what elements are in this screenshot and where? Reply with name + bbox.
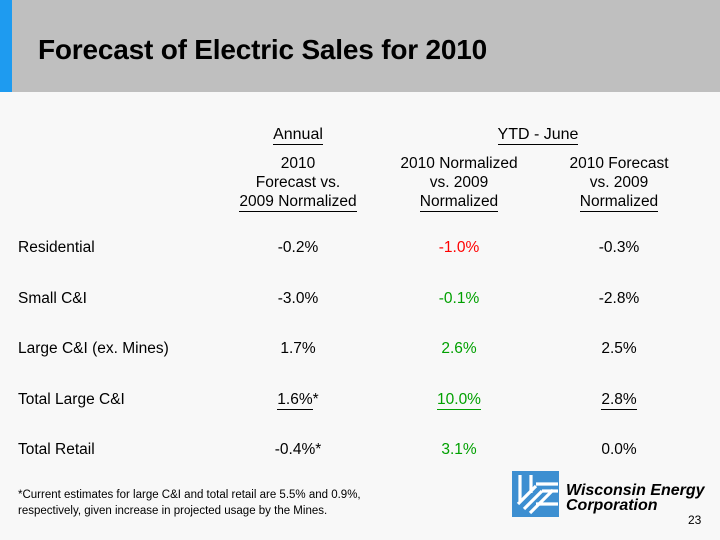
footnote: *Current estimates for large C&I and tot… xyxy=(18,487,488,519)
table-row: Large C&I (ex. Mines)1.7%2.6%2.5% xyxy=(0,340,720,362)
column-header-1-line3: 2009 Normalized xyxy=(239,192,356,212)
row-label: Total Retail xyxy=(18,441,95,459)
table-cell: -2.8% xyxy=(539,290,699,308)
row-label: Large C&I (ex. Mines) xyxy=(18,340,169,358)
table-cell: -0.3% xyxy=(539,239,699,257)
table-cell: 1.6%* xyxy=(218,391,378,409)
table-cell: -0.2% xyxy=(218,239,378,257)
group-header-ytd-label: YTD - June xyxy=(498,126,579,145)
table-cell: 10.0% xyxy=(379,391,539,409)
logo-wordmark-line-1: Wisconsin Energy xyxy=(566,483,705,498)
forecast-table: Annual YTD - June 2010 Forecast vs. 2009… xyxy=(0,92,720,460)
table-cell: 2.5% xyxy=(539,340,699,358)
slide-title-band: Forecast of Electric Sales for 2010 xyxy=(0,0,720,92)
title-accent-bar xyxy=(0,0,12,92)
table-cell: 2.8% xyxy=(539,391,699,409)
cell-value: 3.1% xyxy=(441,441,476,458)
row-label: Residential xyxy=(18,239,95,257)
cell-value: -0.1% xyxy=(439,290,480,307)
column-header-1: 2010 Forecast vs. 2009 Normalized xyxy=(218,154,378,212)
footnote-line-2: respectively, given increase in projecte… xyxy=(18,503,488,519)
group-header-annual: Annual xyxy=(218,126,378,144)
column-header-2-line2: vs. 2009 xyxy=(379,173,539,192)
column-header-3-line1: 2010 Forecast xyxy=(539,154,699,173)
group-header-ytd: YTD - June xyxy=(458,126,618,144)
logo-wordmark-line-2: Corporation xyxy=(566,498,705,513)
page-title: Forecast of Electric Sales for 2010 xyxy=(38,34,487,66)
footnote-line-1: *Current estimates for large C&I and tot… xyxy=(18,487,488,503)
table-cell: 2.6% xyxy=(379,340,539,358)
cell-value: 1.6% xyxy=(277,391,312,410)
table-cell: -1.0% xyxy=(379,239,539,257)
cell-value: 10.0% xyxy=(437,391,481,410)
cell-value: -0.4%* xyxy=(275,441,322,458)
cell-value: -3.0% xyxy=(278,290,319,307)
cell-value: -0.2% xyxy=(278,239,319,256)
column-header-2: 2010 Normalized vs. 2009 Normalized xyxy=(379,154,539,212)
table-row: Small C&I-3.0%-0.1%-2.8% xyxy=(0,290,720,312)
logo: Wisconsin Energy Corporation xyxy=(512,471,702,519)
column-header-3-line2: vs. 2009 xyxy=(539,173,699,192)
table-row: Residential-0.2%-1.0%-0.3% xyxy=(0,239,720,261)
wisconsin-energy-mark-icon xyxy=(512,471,559,517)
cell-value: 2.5% xyxy=(601,340,636,357)
cell-value: 1.7% xyxy=(280,340,315,357)
table-cell: 0.0% xyxy=(539,441,699,459)
cell-value: -0.3% xyxy=(599,239,640,256)
table-cell: -3.0% xyxy=(218,290,378,308)
column-header-1-line2: Forecast vs. xyxy=(218,173,378,192)
cell-value: -1.0% xyxy=(439,239,480,256)
cell-value: 2.8% xyxy=(601,391,636,410)
table-row: Total Retail-0.4%*3.1%0.0% xyxy=(0,441,720,463)
column-header-2-line1: 2010 Normalized xyxy=(379,154,539,173)
cell-value: -2.8% xyxy=(599,290,640,307)
table-cell: 3.1% xyxy=(379,441,539,459)
column-header-2-line3: Normalized xyxy=(420,192,498,212)
logo-wordmark: Wisconsin Energy Corporation xyxy=(566,483,705,513)
group-header-annual-label: Annual xyxy=(273,126,323,145)
column-header-3-line3: Normalized xyxy=(580,192,658,212)
row-label: Small C&I xyxy=(18,290,87,308)
table-cell: -0.1% xyxy=(379,290,539,308)
page-number: 23 xyxy=(688,513,701,527)
table-cell: 1.7% xyxy=(218,340,378,358)
row-label: Total Large C&I xyxy=(18,391,125,409)
column-header-1-line1: 2010 xyxy=(218,154,378,173)
column-header-3: 2010 Forecast vs. 2009 Normalized xyxy=(539,154,699,212)
table-cell: -0.4%* xyxy=(218,441,378,459)
table-row: Total Large C&I1.6%*10.0%2.8% xyxy=(0,391,720,413)
cell-value-suffix: * xyxy=(313,391,319,408)
cell-value: 0.0% xyxy=(601,441,636,458)
cell-value: 2.6% xyxy=(441,340,476,357)
